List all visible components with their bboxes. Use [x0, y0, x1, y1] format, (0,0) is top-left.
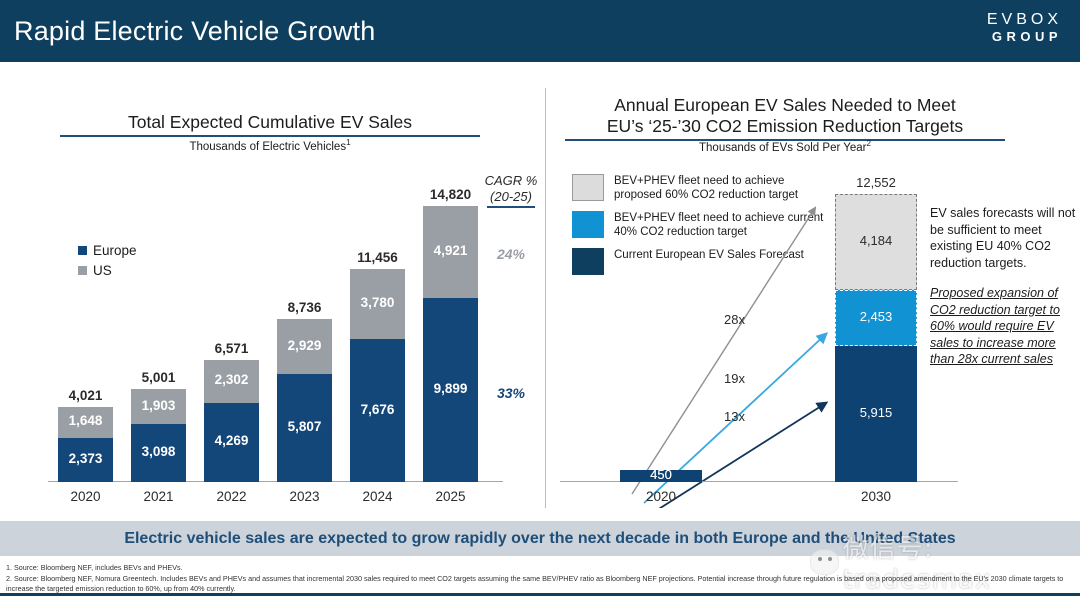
x-axis-tick-2020: 2020 [58, 489, 113, 504]
bar-value-europe-2024: 7,676 [350, 402, 405, 417]
bar-total-2021: 5,001 [131, 370, 186, 385]
bar-value-us-2024: 3,780 [350, 295, 405, 310]
bar-segment-current-forecast-2030: 5,915 [835, 346, 917, 482]
x-axis-tick-2020: 2020 [620, 489, 702, 504]
cumulative-ev-sales-chart: 2,3731,6484,02120203,0981,9035,00120214,… [40, 160, 540, 508]
legend-label-proposed-60: BEV+PHEV fleet need to achieve proposed … [614, 174, 832, 202]
bar-value-us-2021: 1,903 [131, 398, 186, 413]
bar-segment-europe-2023: 5,807 [277, 374, 332, 482]
note-plain-text: EV sales forecasts will not be sufficien… [930, 206, 1075, 270]
bar-value-current-forecast-2030: 5,915 [835, 405, 917, 420]
bar-2020[interactable]: 2,3731,6484,021 [58, 407, 113, 482]
bar-2024[interactable]: 7,6763,78011,456 [350, 269, 405, 482]
right-chart-title-line1: Annual European EV Sales Needed to Meet [614, 95, 955, 115]
legend-label-current-40: BEV+PHEV fleet need to achieve current 4… [614, 211, 832, 239]
slide: Rapid Electric Vehicle Growth EVBOX GROU… [0, 0, 1080, 598]
bar-segment-europe-2025: 9,899 [423, 298, 478, 482]
bar-2021[interactable]: 3,0981,9035,001 [131, 389, 186, 482]
bar-value-europe-2025: 9,899 [423, 381, 478, 396]
bar-segment-proposed-60-2030: 4,184 [835, 194, 917, 290]
footnote-1: 1. Source: Bloomberg NEF, includes BEVs … [6, 563, 1074, 574]
left-chart-subtitle: Thousands of Electric Vehicles1 [60, 138, 480, 153]
logo-text-group: GROUP [987, 29, 1062, 45]
x-axis-tick-2024: 2024 [350, 489, 405, 504]
right-chart-title-line2: EU’s ‘25-’30 CO2 Emission Reduction Targ… [607, 116, 963, 136]
bar-segment-us-2023: 2,929 [277, 319, 332, 374]
bar-segment-us-2022: 2,302 [204, 360, 259, 403]
bar-segment-current-forecast-2020: 450450 [620, 470, 702, 482]
right-chart-legend: BEV+PHEV fleet need to achieve proposed … [572, 174, 832, 284]
footer-rule [0, 593, 1080, 596]
bar-2020[interactable]: 450450 [620, 470, 702, 482]
bar-value-europe-2022: 4,269 [204, 433, 259, 448]
legend-label-current-forecast: Current European EV Sales Forecast [614, 248, 804, 262]
bar-value-proposed-60-2030: 4,184 [836, 233, 916, 248]
legend-item-current-forecast[interactable]: Current European EV Sales Forecast [572, 248, 832, 275]
bar-total-2022: 6,571 [204, 341, 259, 356]
bar-total-2023: 8,736 [277, 300, 332, 315]
bar-value-us-2023: 2,929 [277, 338, 332, 353]
annual-eu-ev-sales-chart: BEV+PHEV fleet need to achieve proposed … [560, 160, 1070, 508]
page-title: Rapid Electric Vehicle Growth [14, 16, 375, 47]
bar-value-current-40-2030: 2,453 [836, 309, 916, 324]
legend-item-current-40[interactable]: BEV+PHEV fleet need to achieve current 4… [572, 211, 832, 239]
x-axis-tick-2022: 2022 [204, 489, 259, 504]
panel-divider [545, 88, 546, 508]
bar-value-us-2022: 2,302 [204, 372, 259, 387]
bar-total-2024: 11,456 [350, 250, 405, 265]
right-chart-note: EV sales forecasts will not be sufficien… [930, 205, 1080, 368]
bar-total-2030: 12,552 [835, 175, 917, 190]
right-subtitle-footnote-marker: 2 [867, 139, 871, 148]
summary-banner: Electric vehicle sales are expected to g… [0, 521, 1080, 556]
x-axis-tick-2030: 2030 [835, 489, 917, 504]
legend-swatch-current-forecast-icon [572, 248, 604, 275]
bar-2022[interactable]: 4,2692,3026,571 [204, 360, 259, 482]
bar-total-2020: 4,021 [58, 388, 113, 403]
multiplier-label-19x: 19x [724, 371, 745, 386]
bar-segment-europe-2021: 3,098 [131, 424, 186, 482]
footnote-2: 2. Source: Bloomberg NEF, Nomura Greente… [6, 574, 1074, 595]
bar-segment-current-40-2030: 2,453 [835, 290, 917, 346]
right-chart-title: Annual European EV Sales Needed to Meet … [565, 95, 1005, 141]
bar-value-us-2020: 1,648 [58, 413, 113, 428]
bar-value-europe-2020: 2,373 [58, 451, 113, 466]
footnotes: 1. Source: Bloomberg NEF, includes BEVs … [6, 563, 1074, 595]
bar-segment-us-2020: 1,648 [58, 407, 113, 438]
bar-total-2025: 14,820 [423, 187, 478, 202]
bar-2023[interactable]: 5,8072,9298,736 [277, 319, 332, 482]
multiplier-label-28x: 28x [724, 312, 745, 327]
legend-swatch-current-40-icon [572, 211, 604, 238]
bar-segment-europe-2020: 2,373 [58, 438, 113, 482]
x-axis-tick-2025: 2025 [423, 489, 478, 504]
bar-segment-europe-2022: 4,269 [204, 403, 259, 483]
bar-segment-europe-2024: 7,676 [350, 339, 405, 482]
x-axis-tick-2021: 2021 [131, 489, 186, 504]
legend-item-proposed-60[interactable]: BEV+PHEV fleet need to achieve proposed … [572, 174, 832, 202]
bar-value-europe-2023: 5,807 [277, 419, 332, 434]
right-chart-subtitle: Thousands of EVs Sold Per Year2 [565, 139, 1005, 154]
left-chart-subtitle-text: Thousands of Electric Vehicles [189, 141, 346, 153]
left-subtitle-footnote-marker: 1 [346, 138, 350, 147]
left-chart-title-text: Total Expected Cumulative EV Sales [128, 112, 412, 132]
evbox-group-logo: EVBOX GROUP [987, 11, 1062, 45]
right-chart-subtitle-text: Thousands of EVs Sold Per Year [699, 142, 867, 154]
bar-2030[interactable]: 5,9152,4534,18412,552 [835, 194, 917, 482]
slide-header: Rapid Electric Vehicle Growth EVBOX GROU… [0, 0, 1080, 62]
multiplier-label-13x: 13x [724, 409, 745, 424]
x-axis-tick-2023: 2023 [277, 489, 332, 504]
left-chart-title: Total Expected Cumulative EV Sales [60, 112, 480, 137]
bar-segment-us-2021: 1,903 [131, 389, 186, 424]
summary-banner-text: Electric vehicle sales are expected to g… [124, 530, 955, 548]
left-title-underline [60, 135, 480, 137]
note-emphasis-text: Proposed expansion of CO2 reduction targ… [930, 285, 1080, 368]
bar-total-2020: 450 [620, 467, 702, 482]
legend-swatch-proposed-60-icon [572, 174, 604, 201]
bar-value-europe-2021: 3,098 [131, 444, 186, 459]
bar-value-us-2025: 4,921 [423, 243, 478, 258]
logo-text-evbox: EVBOX [987, 11, 1062, 29]
bar-segment-us-2024: 3,780 [350, 269, 405, 339]
bar-segment-us-2025: 4,921 [423, 206, 478, 298]
bar-2025[interactable]: 9,8994,92114,820 [423, 206, 478, 482]
